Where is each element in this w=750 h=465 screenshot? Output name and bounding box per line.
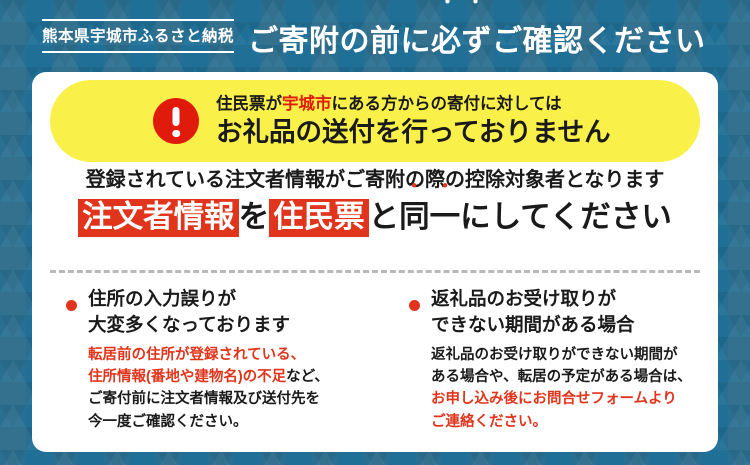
sub-red-text: お申し込み後にお問合せフォームより [431,391,677,407]
exclamation-icon [153,98,199,144]
column-right-subtext: 返礼品のお受け取りができない期間が ある場合や、転居の予定がある場合は、 お申し… [431,344,712,433]
info-column-right: 返礼品のお受け取りが できない期間がある場合 返礼品のお受け取りができない期間が… [375,286,718,433]
column-left-sub-line-2: 住所情報(番地や建物名)の不足など、 [88,366,369,388]
column-right-sub-line-3: お申し込み後にお問合せフォームより [431,388,712,410]
column-left-sub-line-1: 転居前の住所が登録されている、 [88,344,369,366]
alert-line-2: お礼品の送付を行っておりません [216,117,611,147]
column-left-heading-line-2: 大変多くなっております [88,312,369,338]
alert-line-1: 住民票が宇城市にある方からの寄付に対しては [216,95,611,115]
red-dot-bullet-icon [409,300,420,311]
middle-tail: にしてください [460,200,672,234]
sub-black-text: など、 [286,369,329,385]
page-title-part1: ご寄附の前に [248,25,431,58]
column-left-heading-line-1: 住所の入力誤りが [88,286,369,312]
header-brand-frame: 熊本県宇城市ふるさと納税 [42,19,234,53]
content-card: 住民票が宇城市にある方からの寄付に対しては お礼品の送付を行っておりません 登録… [32,72,718,452]
page-title-emphasis: 必ず [431,16,492,60]
sub-black-text: ある場合や、転居の予定がある場合は、 [431,369,692,385]
column-right-heading-line-1: 返礼品のお受け取りが [431,286,712,312]
column-left-sub-line-3: ご寄付前に注文者情報及び送付先を [88,388,369,410]
middle-emphasis-same: 同一 [399,199,460,236]
info-column-left-body: 住所の入力誤りが 大変多くなっております 転居前の住所が登録されている、 住所情… [88,286,369,433]
sub-black-text: 今一度ご確認ください。 [88,414,248,430]
info-columns: 住所の入力誤りが 大変多くなっております 転居前の住所が登録されている、 住所情… [32,286,718,433]
alert-line1-post: にある方からの寄付に対しては [332,95,562,113]
highlight-box-orderer-info: 注文者情報 [78,199,239,237]
red-dot-bullet-icon [66,300,77,311]
sub-black-text: ご寄付前に注文者情報及び送付先を [88,391,320,407]
sub-red-text: 住所情報(番地や建物名)の不足 [88,369,286,385]
sub-red-text: ご連絡ください。 [431,414,547,430]
middle-line-1: 登録されている注文者情報がご寄附の際の控除対象者となります [32,168,718,193]
column-right-heading-line-2: できない期間がある場合 [431,312,712,338]
column-left-subtext: 転居前の住所が登録されている、 住所情報(番地や建物名)の不足など、 ご寄付前に… [88,344,369,433]
column-right-sub-line-4: ご連絡ください。 [431,411,712,433]
column-left-sub-line-4: 今一度ご確認ください。 [88,411,369,433]
header-brand-label: 熊本県宇城市ふるさと納税 [42,27,234,46]
alert-line1-pre: 住民票が [216,95,282,113]
info-column-right-body: 返礼品のお受け取りが できない期間がある場合 返礼品のお受け取りができない期間が… [431,286,712,433]
middle-line-2: 注文者情報を住民票と同一にしてください [32,199,718,236]
sub-black-text: 返礼品のお受け取りができない期間が [431,347,678,363]
column-right-sub-line-2: ある場合や、転居の予定がある場合は、 [431,366,712,388]
page-title-part2: ご確認ください [492,25,706,58]
header: 熊本県宇城市ふるさと納税 ご寄附の前に必ずご確認ください [0,0,750,72]
highlight-box-residence-certificate: 住民票 [269,199,369,237]
alert-line1-highlight: 宇城市 [282,95,332,113]
column-right-sub-line-1: 返礼品のお受け取りができない期間が [431,344,712,366]
sub-red-text: 転居前の住所が登録されている、 [88,347,305,363]
dashed-divider [50,270,700,273]
banner-root: 熊本県宇城市ふるさと納税 ご寄附の前に必ずご確認ください 住民票が宇城市にある方… [0,0,750,465]
alert-text-block: 住民票が宇城市にある方からの寄付に対しては お礼品の送付を行っておりません [216,95,611,147]
alert-banner: 住民票が宇城市にある方からの寄付に対しては お礼品の送付を行っておりません [50,80,700,162]
middle-conjunction: と [369,200,400,234]
page-title: ご寄附の前に必ずご確認ください [248,16,706,60]
middle-particle-wo: を [239,200,270,234]
middle-statement: 登録されている注文者情報がご寄附の際の控除対象者となります 注文者情報を住民票と… [32,168,718,236]
info-column-left: 住所の入力誤りが 大変多くなっております 転居前の住所が登録されている、 住所情… [32,286,375,433]
